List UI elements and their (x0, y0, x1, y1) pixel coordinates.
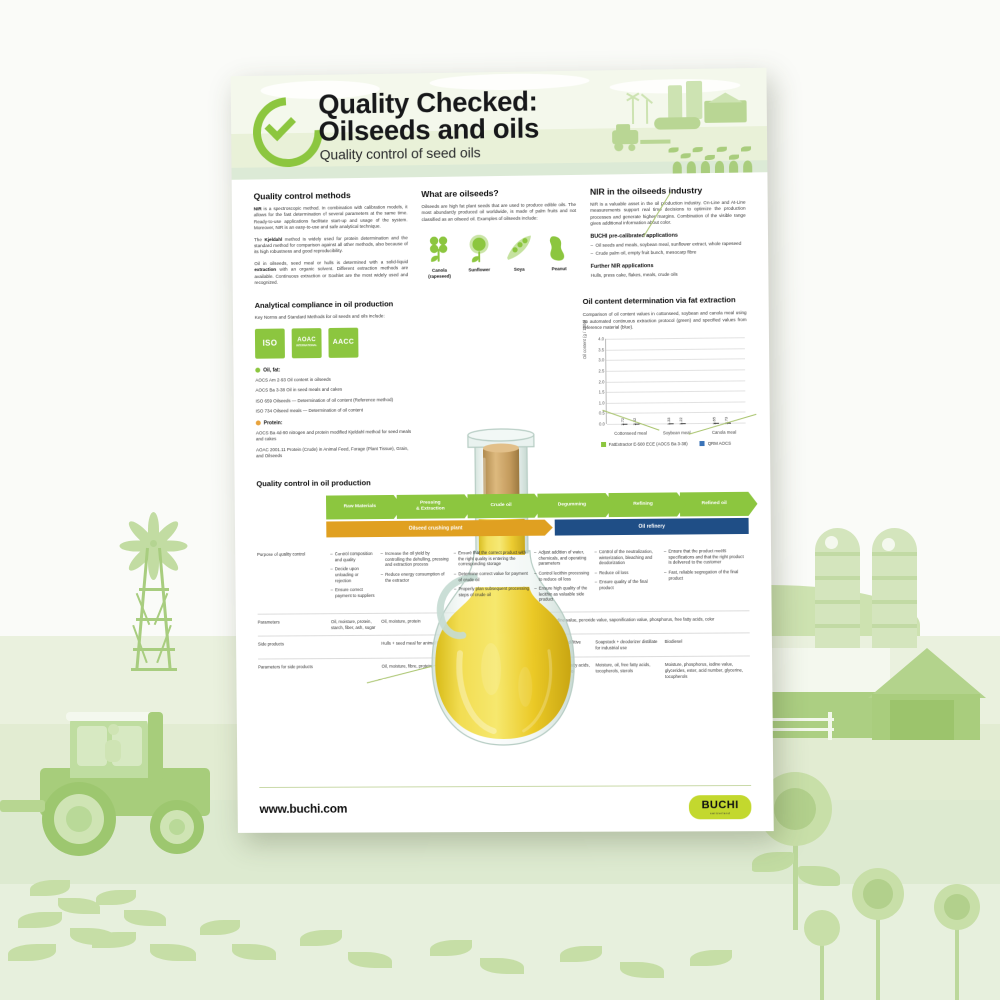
cell: Moisture, oil, free fatty acids, tocophe… (595, 656, 665, 684)
standards-group-oil-fat: Oil, fat: AOCS Am 2-93 Oil content in oi… (255, 366, 415, 415)
y-tick: 0.5 (599, 411, 605, 416)
legend-swatch (601, 442, 606, 447)
flow-stage-crude-oil[interactable]: Crude oil (467, 494, 535, 519)
bar-value: 1.33 (666, 418, 671, 426)
flow-plant-row: Oilseed crushing plant Oil refinery (326, 518, 748, 538)
bar-value: 1.22 (678, 417, 683, 425)
column-analytical-compliance: Analytical compliance in oil production … (255, 300, 416, 466)
paragraph-kjeldahl: The Kjeldahl method is widely used for p… (254, 235, 408, 256)
poster-document: Quality Checked: Oilseeds and oils Quali… (231, 68, 774, 833)
bar-value: 2.72 (620, 418, 625, 426)
heading-what-are-oilseeds: What are oilseeds? (421, 187, 576, 199)
chart-legend: FatExtractor E-500 ECE (AOCS Ba 3-38) QR… (584, 441, 748, 448)
bar-group-cottonseed: 2.72 2.52 (609, 338, 653, 424)
flow-plant-crushing[interactable]: Oilseed crushing plant (326, 520, 545, 538)
standard-item: AOCS Am 2-93 Oil content in oilseeds (255, 376, 414, 384)
y-tick: 1.5 (599, 390, 605, 395)
seed-item-peanut: Peanut (541, 230, 576, 278)
logo-tagline: switzerland (710, 811, 730, 815)
cell (331, 658, 381, 686)
list-precalibrated: Oil seeds and meals, soybean meal, sunfl… (590, 240, 746, 257)
flow-stage-degumming[interactable]: Degumming (538, 493, 606, 518)
cell: Biodiesel (665, 633, 750, 656)
legend-item-1: FatExtractor E-500 ECE (AOCS Ba 3-38) (601, 441, 688, 447)
cell: Moisture, phosphorus, iodine value, glyc… (665, 656, 750, 684)
standard-item: AOCS Ba 4d-90 nitrogen and protein modif… (256, 429, 415, 443)
legend-swatch (700, 441, 705, 446)
chart-plot-area: 4.0 3.5 3.0 2.5 2.0 1.5 1.0 0.5 0.0 2.72… (605, 337, 746, 424)
flow-plant-refinery[interactable]: Oil refinery (555, 518, 749, 536)
x-tick-label: Cottonseed meal (608, 431, 653, 436)
seed-label: Canola (rapeseed) (422, 268, 457, 280)
y-tick: 2.0 (599, 379, 605, 384)
list-item: Crude palm oil, empty fruit bunch, mesoc… (591, 249, 747, 257)
paragraph-further-nir: Hulls, press cake, flakes, meals, crude … (591, 271, 747, 279)
sunflower-seed-icon (462, 231, 497, 265)
flow-stage-refined-oil[interactable]: Refined oil (680, 492, 749, 517)
subheading-compliance: Key Norms and Standard Methods for oil s… (255, 313, 414, 321)
logo-wordmark: BUCHI (701, 800, 738, 811)
seed-item-canola: Canola (rapeseed) (422, 232, 457, 280)
y-tick: 4.0 (598, 336, 604, 341)
standards-badges: ISO AOAC INTERNATIONAL AACC (255, 327, 414, 359)
paragraph-extraction: Oil in oilseeds, seed meal or hulls is d… (254, 259, 408, 286)
cell: Control of the neutralization, winteriza… (594, 544, 664, 612)
heading-analytical-compliance: Analytical compliance in oil production (255, 300, 414, 311)
flow-stage-refining[interactable]: Refining (609, 492, 677, 517)
bar-group-soybean: 1.33 1.22 (655, 338, 699, 424)
x-tick-label: Canola meal (701, 430, 746, 435)
row-label: Side products (258, 636, 331, 659)
divider (259, 785, 751, 788)
y-tick: 2.5 (598, 368, 604, 373)
standard-item: ISO 659 Oilseeds — Determination of oil … (256, 397, 415, 405)
cell (331, 636, 381, 659)
row-label: Parameters for side products (258, 659, 332, 687)
y-tick: 1.0 (599, 400, 605, 405)
bullet-dot-icon (255, 368, 260, 373)
chart-panel: Oil content determination via fat extrac… (583, 295, 748, 462)
paragraph-oilseeds: Oilseeds are high fat plant seeds that a… (421, 202, 576, 223)
subheading-further-nir: Further NIR applications (591, 262, 747, 270)
standards-group-protein: Protein: AOCS Ba 4d-90 nitrogen and prot… (256, 419, 415, 459)
seed-item-soya: Soya (501, 231, 536, 279)
paragraph-nir-industry: NIR is a valuable asset in the oil produ… (590, 200, 746, 228)
chart-y-axis-label: Oil content (g / 100g) (582, 320, 587, 359)
row-label: Parameters (258, 613, 331, 636)
iso-badge: ISO (255, 328, 285, 358)
legend-label: FatExtractor E-500 ECE (AOCS Ba 3-38) (609, 441, 688, 447)
canola-seed-icon (422, 232, 457, 266)
standard-item: AOCS Ba 3-38 Oil in seed meals and cakes (255, 386, 414, 394)
standards-group-title: Oil, fat: (255, 366, 414, 374)
peanut-seed-icon (541, 230, 576, 264)
cell: Soapstock + deodorizer distillate for in… (595, 634, 665, 657)
standard-item: ISO 734 Oilseed meals — Determination of… (256, 407, 415, 415)
header-farm-illustration (612, 76, 764, 175)
cell: Control composition and qualityDecide up… (330, 546, 381, 614)
seed-label: Peanut (542, 266, 577, 272)
y-tick: 0.0 (599, 422, 605, 427)
cell: Oil, moisture, protein, starch, fiber, a… (331, 613, 381, 636)
poster-body: Quality control methods NIR is a spectro… (232, 172, 773, 687)
chart-title: Oil content determination via fat extrac… (583, 295, 747, 307)
seed-item-sunflower: Sunflower (462, 231, 497, 279)
paragraph-nir: NIR is a spectroscopic method. In combin… (254, 204, 408, 232)
website-url[interactable]: www.buchi.com (259, 802, 347, 816)
y-tick: 3.5 (598, 347, 604, 352)
page-title: Quality Checked: Oilseeds and oils (318, 87, 539, 144)
field-band-4 (0, 884, 1000, 1000)
seed-label: Sunflower (462, 267, 497, 273)
title-line-2: Oilseeds and oils (318, 112, 539, 146)
seed-label: Soya (502, 267, 537, 273)
subheading-prectalibrated: BUCHI pre-calibrated applications (590, 231, 746, 239)
heading-quality-control-methods: Quality control methods (254, 189, 408, 201)
bar-chart: Oil content (g / 100g) 4.0 3.5 3.0 2.5 2… (583, 335, 748, 440)
column-nir-industry: NIR in the oilseeds industry NIR is a va… (590, 185, 746, 288)
bar-value: 3.65 (712, 417, 717, 425)
cell: Ensure that the product meets specificat… (664, 543, 750, 611)
y-tick: 3.0 (598, 358, 604, 363)
cell: Adjust addition of water, chemicals, and… (534, 544, 595, 612)
column-what-are-oilseeds: What are oilseeds? Oilseeds are high fat… (421, 187, 577, 289)
chart-description: Comparison of oil content values in cott… (583, 311, 747, 332)
aoac-badge: AOAC INTERNATIONAL (292, 328, 322, 358)
seed-icon-row: Canola (rapeseed) Sunflower Soya (422, 230, 577, 279)
row-label: Purpose of quality control (257, 546, 331, 614)
soya-seed-icon (501, 231, 536, 265)
flow-stage-row: Raw Materials Pressing& Extraction Crude… (326, 492, 749, 520)
flow-stage-raw-materials[interactable]: Raw Materials (326, 495, 394, 520)
bullet-dot-icon (256, 421, 261, 426)
page-subtitle: Quality control of seed oils (320, 144, 481, 162)
legend-label: QRM AOCS (708, 441, 731, 446)
top-columns: Quality control methods NIR is a spectro… (254, 185, 747, 292)
standard-item: AOAC 2001.11 Protein (Crude) in Animal F… (256, 446, 415, 459)
column-quality-control-methods: Quality control methods NIR is a spectro… (254, 189, 409, 291)
buchi-logo: BUCHI switzerland (689, 795, 752, 819)
bar-group-canola: 3.65 3.73 (700, 337, 744, 423)
flow-stage-pressing-extraction[interactable]: Pressing& Extraction (396, 494, 464, 519)
poster-footer: www.buchi.com BUCHI switzerland (259, 785, 751, 821)
list-item: Oil seeds and meals, soybean meal, sunfl… (590, 240, 746, 248)
legend-item-2: QRM AOCS (700, 441, 731, 446)
poster-header: Quality Checked: Oilseeds and oils Quali… (231, 68, 768, 180)
standards-group-title: Protein: (256, 419, 415, 427)
aacc-badge: AACC (328, 328, 358, 358)
